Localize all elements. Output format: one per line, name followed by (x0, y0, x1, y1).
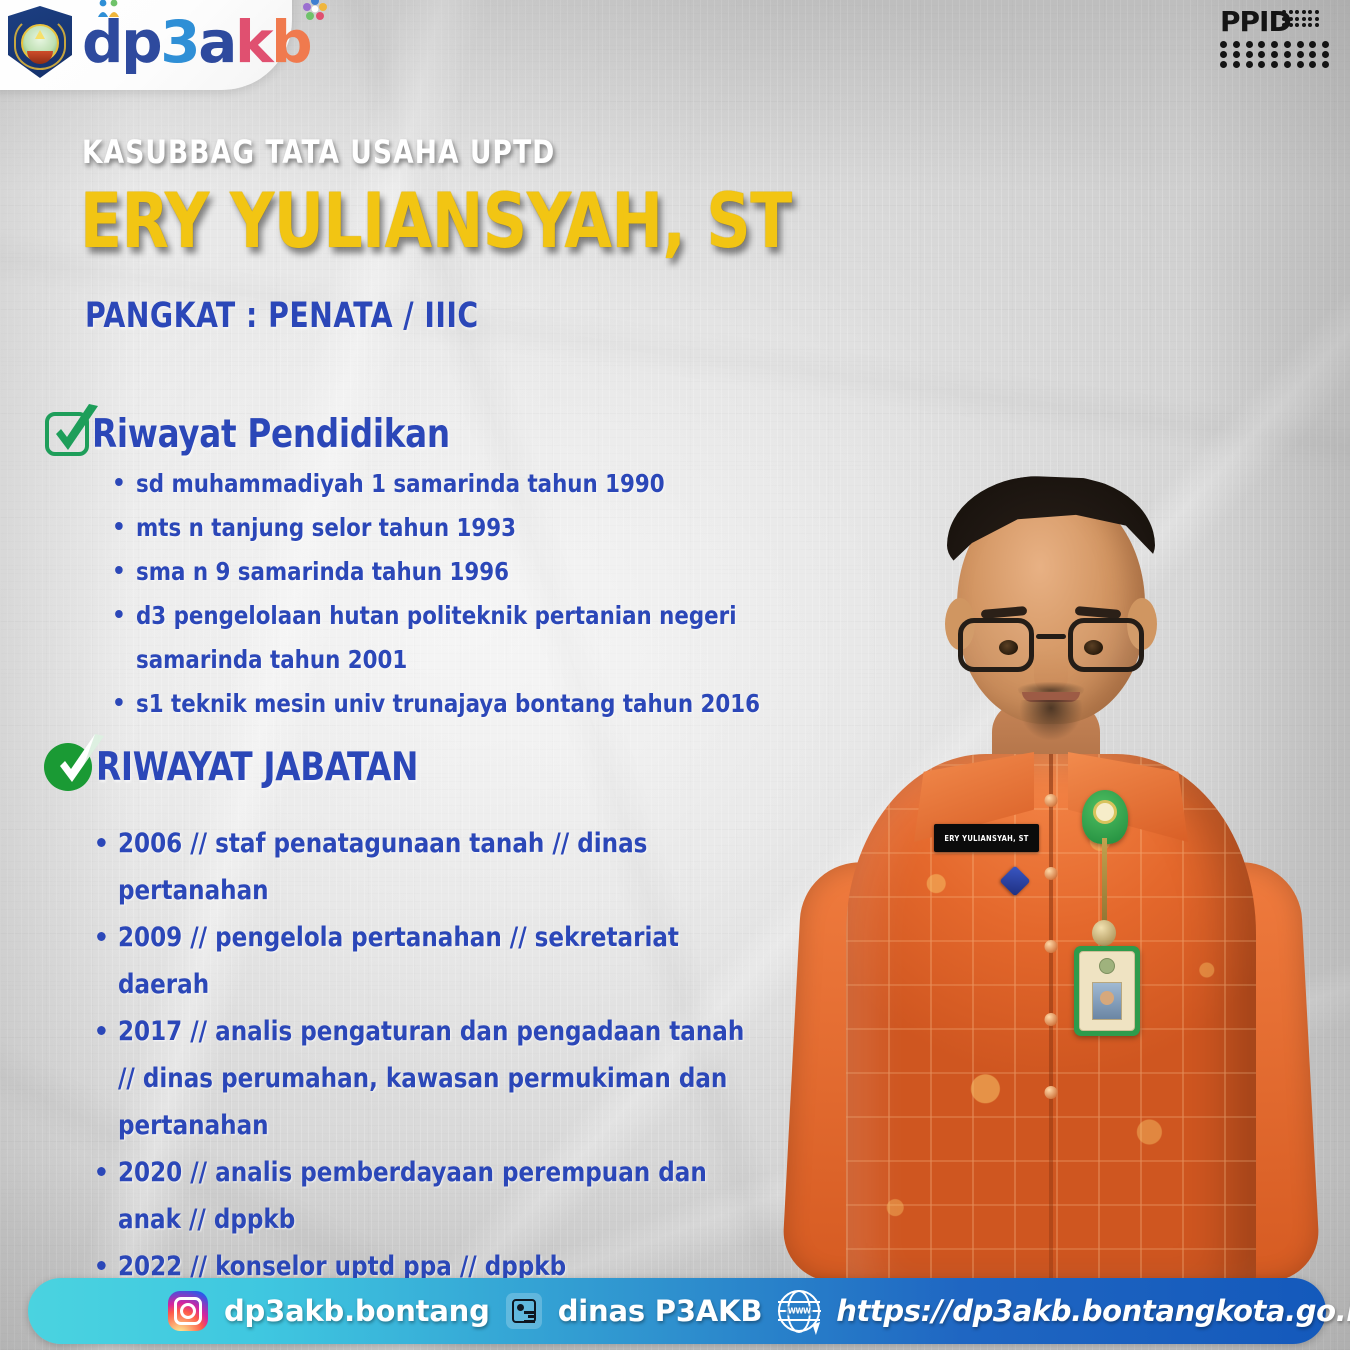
wordmark-text: dp3akb (82, 16, 310, 68)
ppid-top-dots (1282, 10, 1319, 27)
list-item: s1 teknik mesin univ trunajaya bontang t… (136, 682, 801, 726)
ppid-badge: PPID (1220, 8, 1332, 90)
people-decoration-icon (96, 0, 124, 17)
footer-contact-bar: dp3akb.bontang dinas P3AKB WWW https://d… (28, 1278, 1326, 1344)
poster-canvas: dp3akb PPID KASUBBAG TATA USAHA UPTD ERY… (0, 0, 1350, 1350)
section-header-education: Riwayat Pendidikan (42, 408, 477, 460)
section-header-positions: RIWAYAT JABATAN (42, 740, 442, 794)
globe-www-icon[interactable]: WWW (778, 1290, 820, 1332)
batik-vest (846, 754, 1256, 1294)
check-square-icon (42, 408, 96, 460)
website-url[interactable]: https://dp3akb.bontangkota.go.id/ (836, 1294, 1350, 1328)
tiktok-icon[interactable] (506, 1293, 542, 1329)
www-label: WWW (786, 1307, 813, 1316)
section-title-education: Riwayat Pendidikan (92, 412, 450, 457)
badge-reel-icon (1082, 790, 1128, 844)
education-list: sd muhammadiyah 1 samarinda tahun 1990 m… (136, 462, 836, 726)
instagram-handle[interactable]: dp3akb.bontang (224, 1294, 490, 1328)
name-badge: ERY YULIANSYAH, ST (934, 824, 1039, 852)
list-item: 2006 // staf penatagunaan tanah // dinas… (118, 820, 764, 914)
hair (947, 476, 1155, 584)
position-eyebrow: KASUBBAG TATA USAHA UPTD (82, 133, 555, 171)
rank-text: PANGKAT : PENATA / IIIC (85, 296, 479, 336)
head (957, 486, 1145, 724)
list-item: sd muhammadiyah 1 samarinda tahun 1990 (136, 462, 801, 506)
name-badge-text: ERY YULIANSYAH, ST (944, 834, 1028, 843)
ppid-dot-grid (1220, 41, 1332, 68)
list-item: 2020 // analis pemberdayaan perempuan da… (118, 1149, 764, 1243)
check-circle-icon (42, 740, 98, 794)
list-item: d3 pengelolaan hutan politeknik pertania… (136, 594, 801, 682)
brand-logo-plate: dp3akb (0, 0, 292, 90)
list-item: 2017 // analis pengaturan dan pengadaan … (118, 1008, 764, 1149)
kota-bontang-seal-icon (8, 6, 72, 78)
list-item: 2009 // pengelola pertanahan // sekretar… (118, 914, 764, 1008)
tiktok-handle[interactable]: dinas P3AKB (558, 1294, 763, 1328)
section-title-positions: RIWAYAT JABATAN (96, 745, 418, 790)
dp3akb-wordmark: dp3akb (82, 16, 310, 68)
flower-decoration-icon (302, 0, 328, 22)
person-portrait: ERY YULIANSYAH, ST (786, 434, 1316, 1294)
list-item: mts n tanjung selor tahun 1993 (136, 506, 801, 550)
instagram-icon[interactable] (168, 1291, 208, 1331)
positions-list: 2006 // staf penatagunaan tanah // dinas… (118, 820, 798, 1337)
person-name-title: ERY YULIANSYAH, ST (80, 183, 792, 259)
id-card (1074, 946, 1140, 1036)
list-item: sma n 9 samarinda tahun 1996 (136, 550, 801, 594)
